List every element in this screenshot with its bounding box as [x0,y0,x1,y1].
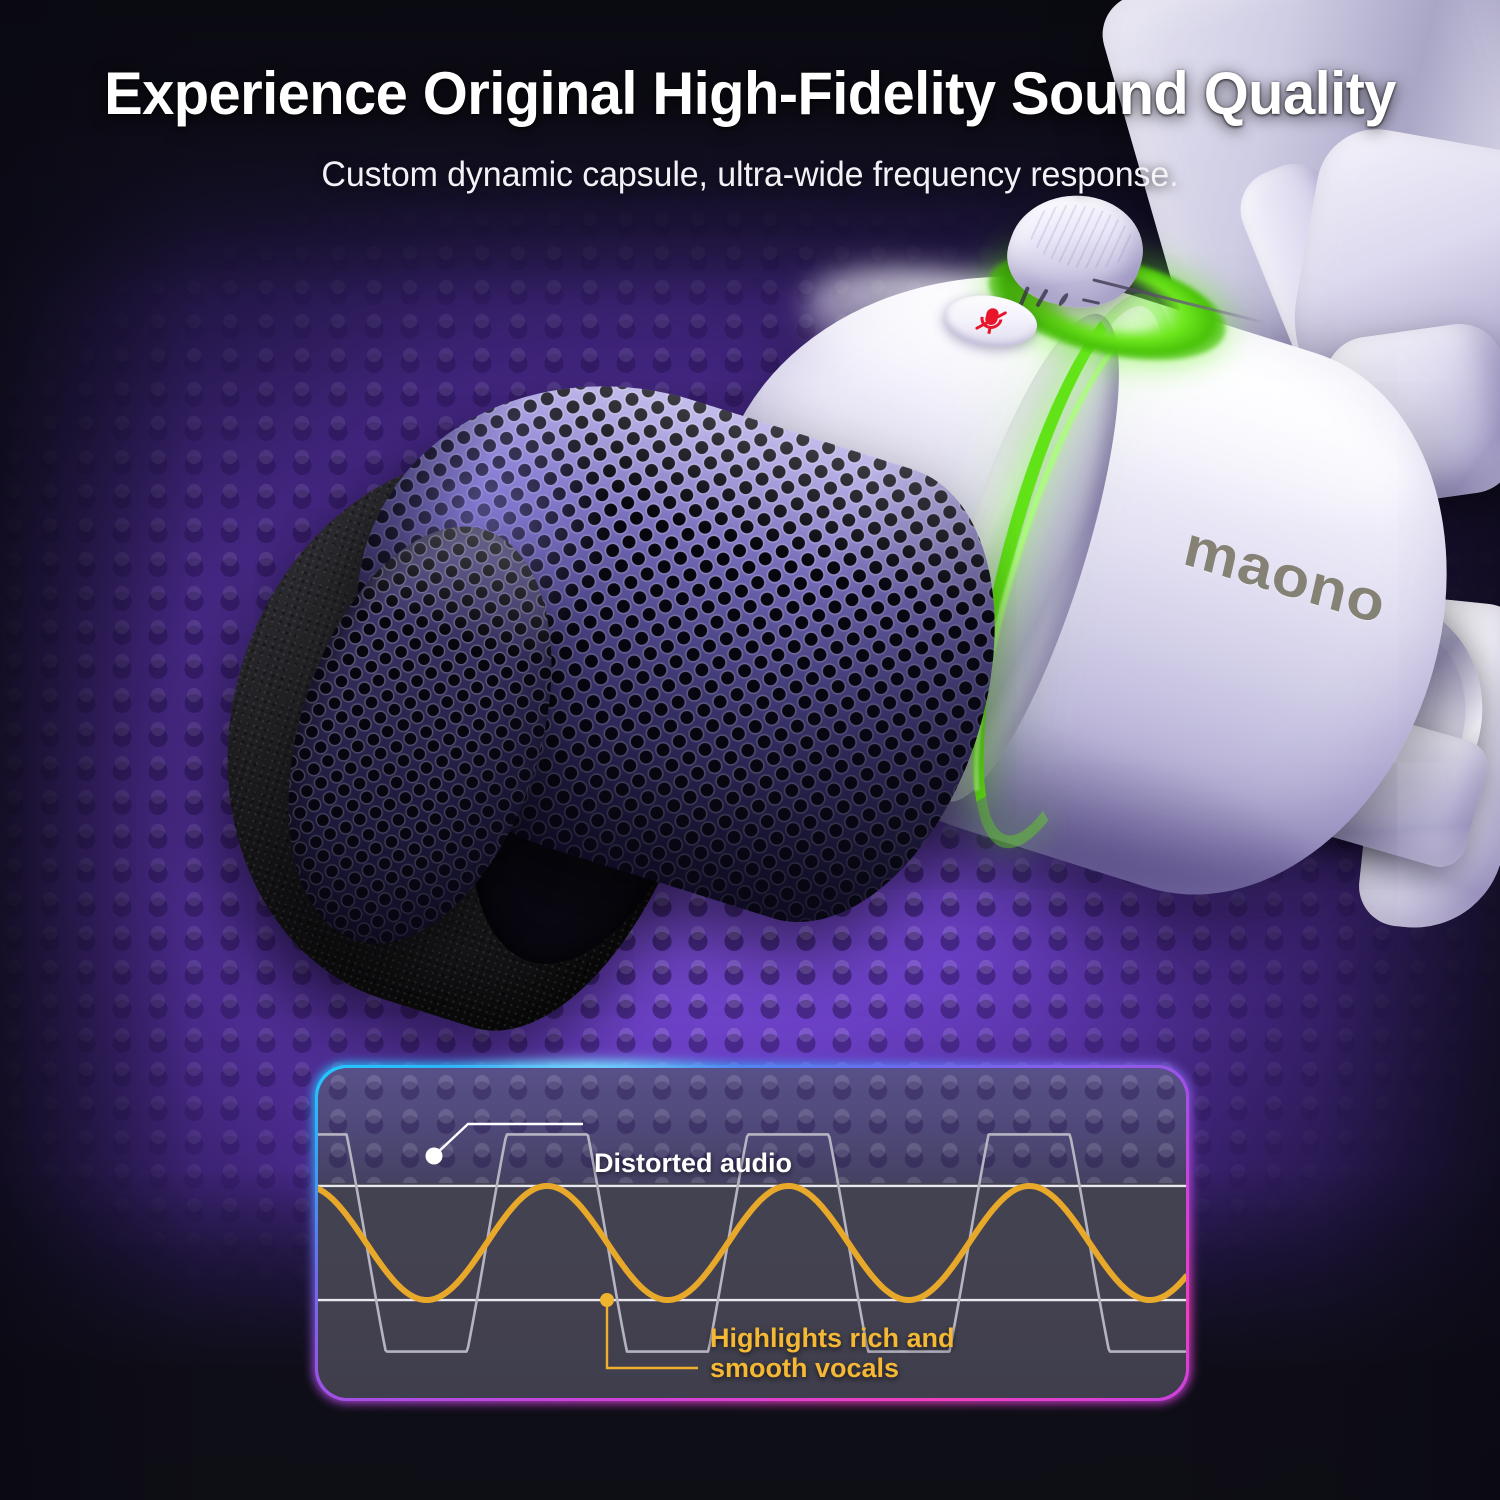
knob-ridges [1020,196,1142,278]
highlights-leader-line [607,1301,698,1368]
panel-inner: Distorted audio Highlights rich and smoo… [318,1068,1186,1398]
smooth-waveform-line [318,1186,1186,1300]
product-marketing-image: Experience Original High-Fidelity Sound … [0,0,1500,1500]
waveform-comparison-panel: Distorted audio Highlights rich and smoo… [318,1068,1186,1398]
header-block: Experience Original High-Fidelity Sound … [0,62,1500,195]
page-title: Experience Original High-Fidelity Sound … [26,62,1474,125]
distorted-marker-dot [426,1148,443,1165]
highlights-label: Highlights rich and smooth vocals [710,1323,955,1383]
distorted-leader-line [436,1124,583,1154]
mute-glyph [973,304,1009,337]
distorted-audio-label: Distorted audio [594,1148,792,1178]
highlights-marker-dot [600,1293,614,1307]
page-subtitle: Custom dynamic capsule, ultra-wide frequ… [23,155,1478,195]
